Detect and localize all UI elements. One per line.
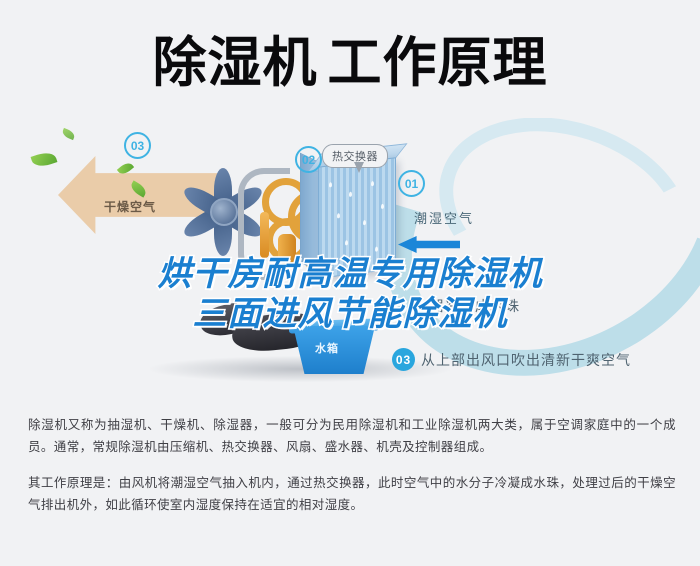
water-tank-label: 水箱 — [315, 340, 339, 356]
marker-01-humid-air: 01 — [398, 170, 425, 197]
paragraph-spacer — [28, 462, 676, 472]
step-02-text: 器冷凝成水珠 — [430, 296, 520, 316]
marker-03-dry-air: 03 — [124, 132, 151, 159]
page-title-part2: 工作原理 — [328, 33, 548, 93]
description-paragraph-2: 其工作原理是：由风机将潮湿空气抽入机内，通过热交换器，此时空气中的水分子冷凝成水… — [28, 472, 676, 516]
heat-exchanger-icon — [318, 157, 396, 279]
leaf-icon — [61, 128, 76, 140]
marker-03-step: 03 — [392, 348, 415, 371]
step-03-text-row: 03 从上部出风口吹出清新干爽空气 — [392, 348, 631, 371]
leaf-icon — [31, 150, 58, 170]
marker-02-heat-exchanger: 02 — [295, 146, 322, 173]
description-paragraph-1: 除湿机又称为抽湿机、干燥机、除湿器，一般可分为民用除湿机和工业除湿机两大类，属于… — [28, 414, 676, 458]
description-block: 除湿机又称为抽湿机、干燥机、除湿器，一般可分为民用除湿机和工业除湿机两大类，属于… — [28, 414, 676, 520]
dry-air-label: 干燥空气 — [104, 198, 156, 215]
callout-pointer-icon — [354, 162, 364, 173]
step-02-text-row: 器冷凝成水珠 — [430, 296, 520, 316]
illustration-stage: 干燥空气 03 — [0, 118, 700, 398]
page-title-part1: 除湿机 — [153, 33, 318, 93]
page-title-text: 除湿机工作原理 — [153, 36, 548, 90]
humid-air-label: 潮湿空气 — [414, 208, 474, 227]
step-03-text: 从上部出风口吹出清新干爽空气 — [421, 350, 631, 370]
page-root: 除湿机工作原理 干燥空气 03 — [0, 0, 700, 566]
page-title: 除湿机工作原理 — [0, 18, 700, 108]
